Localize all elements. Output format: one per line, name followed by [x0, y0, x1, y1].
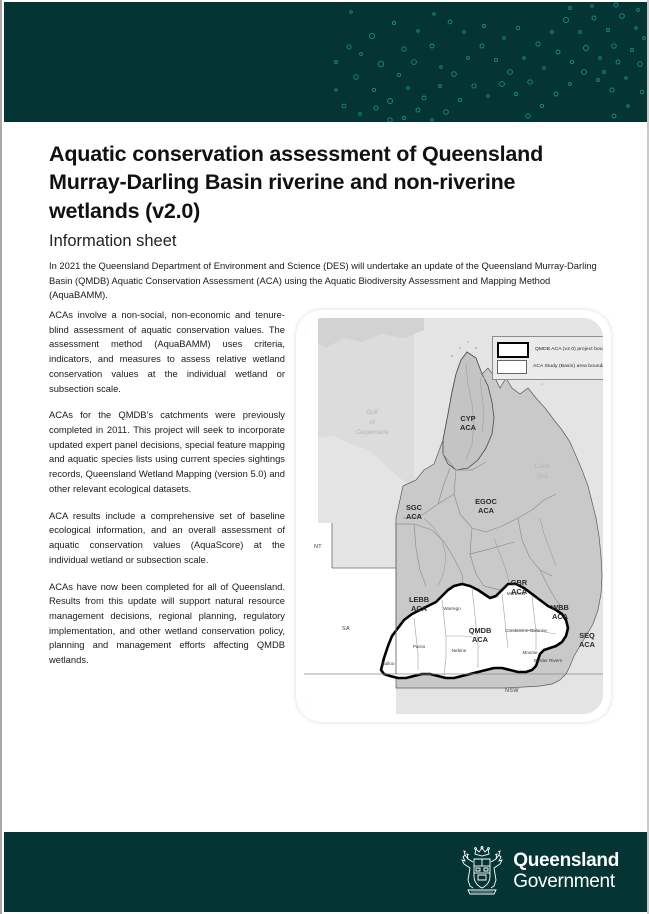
aca-label-sgc-line2: ACA — [406, 512, 423, 521]
legend-label-study-area-boundary: ACA Study (Basin) area boundary — [533, 364, 603, 369]
aca-label-sgc-line1: SGC — [406, 503, 423, 512]
aca-label-qmdb-line2: ACA — [472, 635, 489, 644]
title-block: Aquatic conservation assessment of Queen… — [49, 140, 609, 225]
aca-label-wbb-line2: ACA — [552, 612, 569, 621]
subbasin-label-nebine: Nebine — [452, 648, 467, 653]
section-heading: Information sheet — [49, 232, 177, 251]
aca-label-qmdb-line1: QMDB — [469, 626, 492, 635]
aca-label-lebb-line1: LEBB — [409, 595, 429, 604]
page-title: Aquatic conservation assessment of Queen… — [49, 140, 609, 225]
body-paragraph: ACAs involve a non-social, non-economic … — [49, 308, 285, 396]
state-label-nsw: NSW — [505, 688, 519, 694]
subbasin-label-moonie: Moonie — [522, 650, 538, 655]
footer-banner: Queensland Government — [4, 832, 647, 912]
legend-swatch-thick-outline-icon — [497, 342, 529, 358]
legend-row-study-area-boundary: ACA Study (Basin) area boundary — [497, 358, 603, 375]
aca-label-lebb-line2: ACA — [411, 604, 428, 613]
map-figure-card: Gulf of Carpentaria Coral Sea CYP ACA SG… — [296, 310, 611, 722]
bubble-pattern-decoration — [4, 2, 647, 122]
map-sea-label-coral-line2: Sea — [536, 473, 548, 480]
aca-label-egoc-line1: EGOC — [475, 497, 497, 506]
logo-line-government: Government — [513, 872, 619, 893]
legend-row-project-boundary: QMDB ACA (v2.0) project boundary — [497, 341, 603, 358]
aca-label-seq-line1: SEQ — [579, 631, 595, 640]
map-sea-label-gulf-line1: Gulf — [366, 409, 379, 416]
logo-wordmark: Queensland Government — [513, 851, 619, 892]
state-label-sa: SA — [342, 626, 350, 632]
aca-label-cyp-line1: CYP — [460, 414, 475, 423]
legend-label-project-boundary: QMDB ACA (v2.0) project boundary — [535, 347, 603, 352]
subbasin-label-border-rivers: Border Rivers — [534, 658, 563, 663]
map-sea-label-coral-line1: Coral — [535, 463, 550, 470]
map-legend: QMDB ACA (v2.0) project boundary ACA Stu… — [492, 336, 603, 380]
header-banner — [4, 2, 647, 122]
document-page: Aquatic conservation assessment of Queen… — [0, 0, 649, 914]
aca-label-cyp-line2: ACA — [460, 423, 477, 432]
legend-swatch-thin-outline-icon — [497, 360, 527, 374]
subbasin-label-maranoa: Maranoa — [507, 591, 526, 596]
queensland-coat-of-arms-icon — [460, 846, 504, 898]
subbasin-label-condamine-balonne: Condamine-Balonne — [505, 628, 547, 633]
logo-line-queensland: Queensland — [513, 851, 619, 872]
body-paragraph: ACAs for the QMDB's catchments were prev… — [49, 408, 285, 496]
body-paragraph: ACAs have now been completed for all of … — [49, 580, 285, 668]
body-paragraph: ACA results include a comprehensive set … — [49, 509, 285, 568]
map-canvas: Gulf of Carpentaria Coral Sea CYP ACA SG… — [304, 318, 603, 714]
subbasin-label-paroo: Paroo — [413, 644, 426, 649]
intro-paragraph: In 2021 the Queensland Department of Env… — [49, 259, 605, 303]
queensland-government-logo: Queensland Government — [460, 846, 619, 898]
subbasin-label-bulloo: Bulloo — [382, 661, 395, 666]
aca-label-egoc-line2: ACA — [478, 506, 495, 515]
state-label-nt: NT — [314, 544, 322, 550]
subbasin-label-warrego: Warrego — [443, 606, 461, 611]
aca-label-gbr-line1: GBR — [511, 578, 528, 587]
aca-label-seq-line2: ACA — [579, 640, 596, 649]
aca-label-wbb-line1: WBB — [551, 603, 569, 612]
body-left-column: ACAs involve a non-social, non-economic … — [49, 308, 285, 680]
map-sea-label-gulf-line3: Carpentaria — [356, 429, 389, 436]
